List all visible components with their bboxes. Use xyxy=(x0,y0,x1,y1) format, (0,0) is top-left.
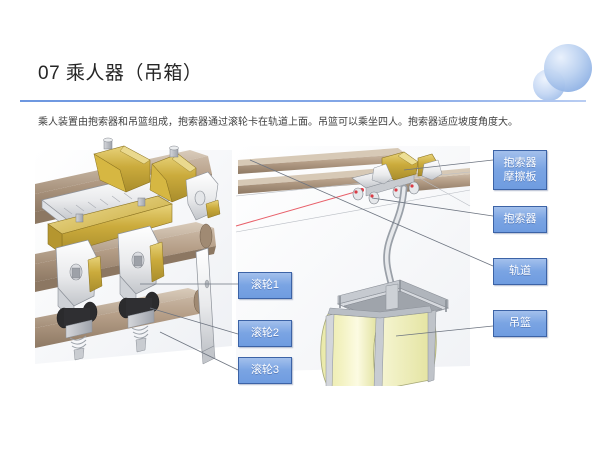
callout-roller-1[interactable]: 滚轮1 xyxy=(238,272,292,299)
subtitle-text: 乘人装置由抱索器和吊篮组成，抱索器通过滚轮卡在轨道上面。吊篮可以乘坐四人。抱索器… xyxy=(38,116,578,130)
rope-grip-assembly xyxy=(35,138,232,364)
callout-roller-2[interactable]: 滚轮2 xyxy=(238,320,292,347)
callout-roller-3[interactable]: 滚轮3 xyxy=(238,357,292,384)
callout-cabin[interactable]: 吊篮 xyxy=(493,310,547,337)
callout-grip-friction-plate[interactable]: 抱索器 摩擦板 xyxy=(493,150,547,190)
page-title: 07 乘人器（吊箱） xyxy=(38,58,202,85)
header-divider xyxy=(20,100,586,102)
small-blue-circle xyxy=(533,69,565,101)
large-blue-circle xyxy=(544,44,592,92)
slide-canvas: 07 乘人器（吊箱） 乘人装置由抱索器和吊篮组成，抱索器通过滚轮卡在轨道上面。吊… xyxy=(0,0,600,450)
decorative-circles xyxy=(510,38,600,106)
callout-grip[interactable]: 抱索器 xyxy=(493,206,547,233)
callout-track[interactable]: 轨道 xyxy=(493,258,547,285)
gondola-assembly xyxy=(236,146,470,386)
